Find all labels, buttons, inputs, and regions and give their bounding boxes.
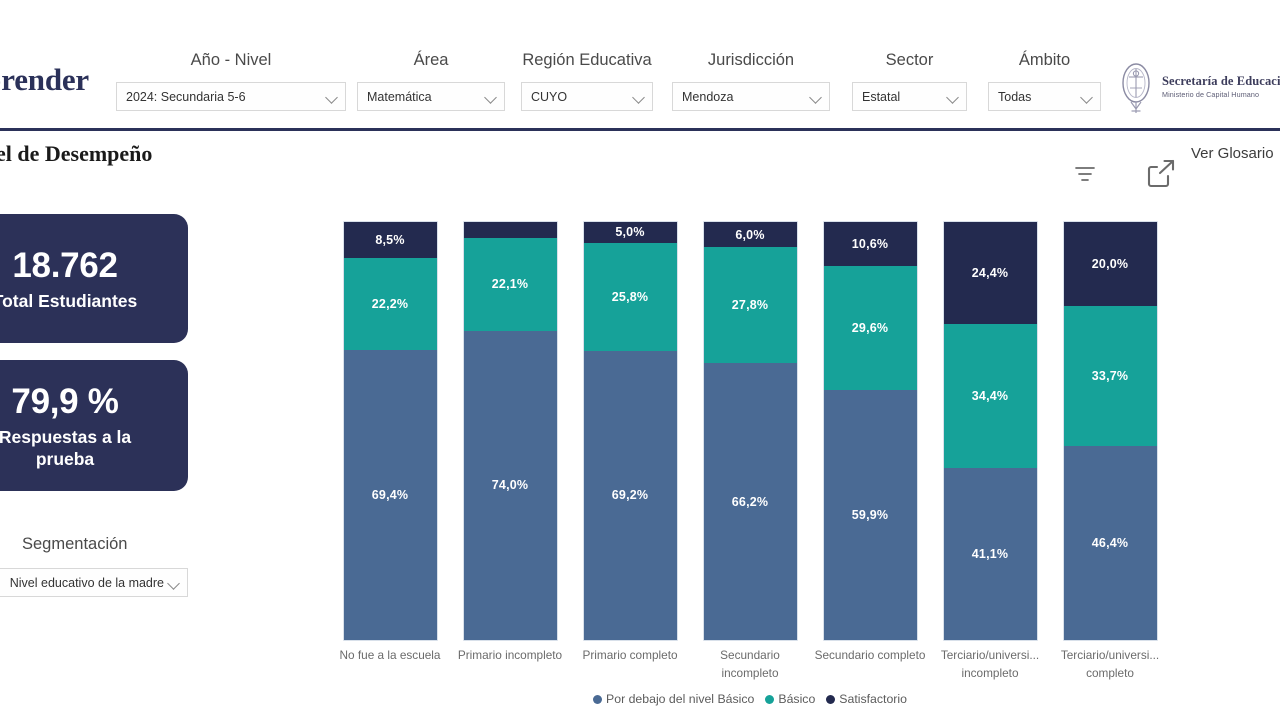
legend-color-dot [593, 695, 602, 704]
bar-column: 6,0%27,8%66,2% [690, 222, 810, 640]
bar-segment-label: 5,0% [615, 225, 644, 239]
bar-segment-label: 34,4% [972, 389, 1008, 403]
visual-toolbar [1063, 152, 1183, 196]
filter-label: Sector [852, 50, 967, 70]
filter-icon[interactable] [1063, 152, 1107, 196]
bar-segment[interactable]: 5,0% [584, 222, 677, 243]
bar-segment[interactable]: 29,6% [824, 266, 917, 390]
filter-value: Matemática [367, 90, 481, 104]
filter-label: Región Educativa [521, 50, 653, 70]
bar-segment[interactable]: 6,0% [704, 222, 797, 247]
x-axis-label: No fue a la escuela [330, 646, 450, 682]
bar-segment-label: 69,2% [612, 488, 648, 502]
aprender-dashboard: Aprender Año - Nivel2024: Secundaria 5-6… [0, 0, 1280, 720]
bar-segment[interactable]: 59,9% [824, 390, 917, 640]
gov-logo-line1: Secretaría de Educación [1162, 74, 1280, 89]
filter-sector: SectorEstatal [852, 50, 967, 111]
chevron-down-icon [633, 90, 646, 103]
bar-segment-label: 59,9% [852, 508, 888, 522]
legend-label: Básico [778, 692, 815, 706]
bar-stack[interactable]: 6,0%27,8%66,2% [704, 222, 797, 640]
bar-segment[interactable]: 74,0% [464, 331, 557, 640]
filter-select-sector[interactable]: Estatal [852, 82, 967, 111]
filter-region_educativa: Región EducativaCUYO [521, 50, 653, 111]
bar-segment[interactable]: 33,7% [1064, 306, 1157, 447]
bar-column: 5,0%25,8%69,2% [570, 222, 690, 640]
bar-segment-label: 33,7% [1092, 369, 1128, 383]
x-axis-label: Secundario completo [810, 646, 930, 682]
chevron-down-icon [326, 90, 339, 103]
bar-stack[interactable]: 5,0%25,8%69,2% [584, 222, 677, 640]
bar-segment-label: 74,0% [492, 478, 528, 492]
kpi-label: Respuestas a la prueba [0, 426, 145, 470]
filter-area: ÁreaMatemática [357, 50, 505, 111]
filter-anio_nivel: Año - Nivel2024: Secundaria 5-6 [116, 50, 346, 111]
bar-column: 20,0%33,7%46,4% [1050, 222, 1170, 640]
filter-value: CUYO [531, 90, 629, 104]
bar-segment-label: 22,1% [492, 277, 528, 291]
focus-mode-icon[interactable] [1139, 152, 1183, 196]
chart-x-axis: No fue a la escuelaPrimario incompletoPr… [330, 646, 1170, 682]
filter-value: 2024: Secundaria 5-6 [126, 90, 322, 104]
bar-column: 10,6%29,6%59,9% [810, 222, 930, 640]
bar-segment[interactable]: 22,1% [464, 238, 557, 330]
x-axis-label: Terciario/universi... completo [1050, 646, 1170, 682]
bar-segment[interactable]: 22,2% [344, 258, 437, 351]
filter-label: Año - Nivel [116, 50, 346, 70]
filter-select-area[interactable]: Matemática [357, 82, 505, 111]
bar-segment[interactable]: 24,4% [944, 222, 1037, 324]
gov-logo-line2: Ministerio de Capital Humano [1162, 90, 1280, 99]
gov-logo: Secretaría de Educación Ministerio de Ca… [1118, 57, 1280, 115]
legend-color-dot [826, 695, 835, 704]
chevron-down-icon [810, 90, 823, 103]
bar-segment-label: 41,1% [972, 547, 1008, 561]
gov-logo-text: Secretaría de Educación Ministerio de Ca… [1162, 74, 1280, 99]
filter-label: Jurisdicción [672, 50, 830, 70]
filter-value: Estatal [862, 90, 943, 104]
filter-select-jurisdiccion[interactable]: Mendoza [672, 82, 830, 111]
bar-segment-label: 46,4% [1092, 536, 1128, 550]
bar-segment[interactable]: 8,5% [344, 222, 437, 258]
bar-segment[interactable]: 34,4% [944, 324, 1037, 468]
bar-segment[interactable]: 27,8% [704, 247, 797, 363]
kpi-card-respuestas-prueba: 79,9 % Respuestas a la prueba [0, 360, 188, 491]
bar-segment-label: 29,6% [852, 321, 888, 335]
aprender-logo: Aprender [0, 62, 89, 98]
bar-segment-label: 27,8% [732, 298, 768, 312]
x-axis-label: Primario incompleto [450, 646, 570, 682]
bar-stack[interactable]: 8,5%22,2%69,4% [344, 222, 437, 640]
bar-column: 22,1%74,0% [450, 222, 570, 640]
filter-value: Mendoza [682, 90, 806, 104]
filter-select-anio_nivel[interactable]: 2024: Secundaria 5-6 [116, 82, 346, 111]
legend-label: Satisfactorio [839, 692, 907, 706]
kpi-value: 18.762 [12, 246, 117, 286]
x-axis-label: Terciario/universi... incompleto [930, 646, 1050, 682]
kpi-label: Total Estudiantes [0, 290, 151, 312]
bar-segment[interactable] [464, 222, 557, 238]
legend-item[interactable]: Satisfactorio [826, 692, 907, 706]
filter-select-region_educativa[interactable]: CUYO [521, 82, 653, 111]
bar-column: 8,5%22,2%69,4% [330, 222, 450, 640]
bar-segment-label: 25,8% [612, 290, 648, 304]
filter-toolbar: Aprender Año - Nivel2024: Secundaria 5-6… [0, 0, 1280, 131]
filter-jurisdiccion: JurisdicciónMendoza [672, 50, 830, 111]
bar-segment[interactable]: 20,0% [1064, 222, 1157, 306]
legend-item[interactable]: Básico [765, 692, 815, 706]
bar-segment-label: 69,4% [372, 488, 408, 502]
bar-column: 24,4%34,4%41,1% [930, 222, 1050, 640]
legend-item[interactable]: Por debajo del nivel Básico [593, 692, 754, 706]
bar-stack[interactable]: 24,4%34,4%41,1% [944, 222, 1037, 640]
bar-segment-label: 6,0% [735, 228, 764, 242]
filter-label: Área [357, 50, 505, 70]
legend-label: Por debajo del nivel Básico [606, 692, 754, 706]
filter-ambito: ÁmbitoTodas [988, 50, 1101, 111]
x-axis-label: Primario completo [570, 646, 690, 682]
segmentation-value: Nivel educativo de la madre [0, 576, 164, 590]
bar-segment-label: 8,5% [375, 233, 404, 247]
ver-glosario-link[interactable]: Ver Glosario [1191, 145, 1274, 162]
filter-select-ambito[interactable]: Todas [988, 82, 1101, 111]
page-title: Nivel de Desempeño [0, 141, 152, 167]
bar-segment[interactable]: 46,4% [1064, 446, 1157, 640]
bar-stack[interactable]: 22,1%74,0% [464, 222, 557, 640]
bar-segment-label: 24,4% [972, 266, 1008, 280]
chart-plot-area: 8,5%22,2%69,4%22,1%74,0%5,0%25,8%69,2%6,… [330, 222, 1170, 640]
bar-segment[interactable]: 66,2% [704, 363, 797, 640]
filter-label: Ámbito [988, 50, 1101, 70]
bar-segment-label: 22,2% [372, 297, 408, 311]
bar-segment-label: 10,6% [852, 237, 888, 251]
bar-stack[interactable]: 20,0%33,7%46,4% [1064, 222, 1157, 640]
chart-legend: Por debajo del nivel BásicoBásicoSatisfa… [330, 692, 1170, 706]
bar-stack[interactable]: 10,6%29,6%59,9% [824, 222, 917, 640]
bar-segment[interactable]: 41,1% [944, 468, 1037, 640]
chevron-down-icon [1081, 90, 1094, 103]
bar-segment[interactable]: 69,2% [584, 351, 677, 640]
bar-segment[interactable]: 25,8% [584, 243, 677, 351]
bar-segment[interactable]: 10,6% [824, 222, 917, 266]
legend-color-dot [765, 695, 774, 704]
chevron-down-icon [947, 90, 960, 103]
kpi-value: 79,9 % [11, 382, 118, 422]
filter-value: Todas [998, 90, 1077, 104]
x-axis-label: Secundario incompleto [690, 646, 810, 682]
segmentation-select[interactable]: Nivel educativo de la madre [0, 568, 188, 597]
stacked-bar-chart: 8,5%22,2%69,4%22,1%74,0%5,0%25,8%69,2%6,… [330, 222, 1170, 720]
argentina-shield-icon [1118, 57, 1154, 115]
kpi-card-total-estudiantes: 18.762 Total Estudiantes [0, 214, 188, 343]
bar-segment-label: 20,0% [1092, 257, 1128, 271]
chevron-down-icon [485, 90, 498, 103]
bar-segment[interactable]: 69,4% [344, 350, 437, 640]
chevron-down-icon [168, 576, 181, 589]
segmentation-label: Segmentación [22, 535, 128, 554]
bar-segment-label: 66,2% [732, 495, 768, 509]
